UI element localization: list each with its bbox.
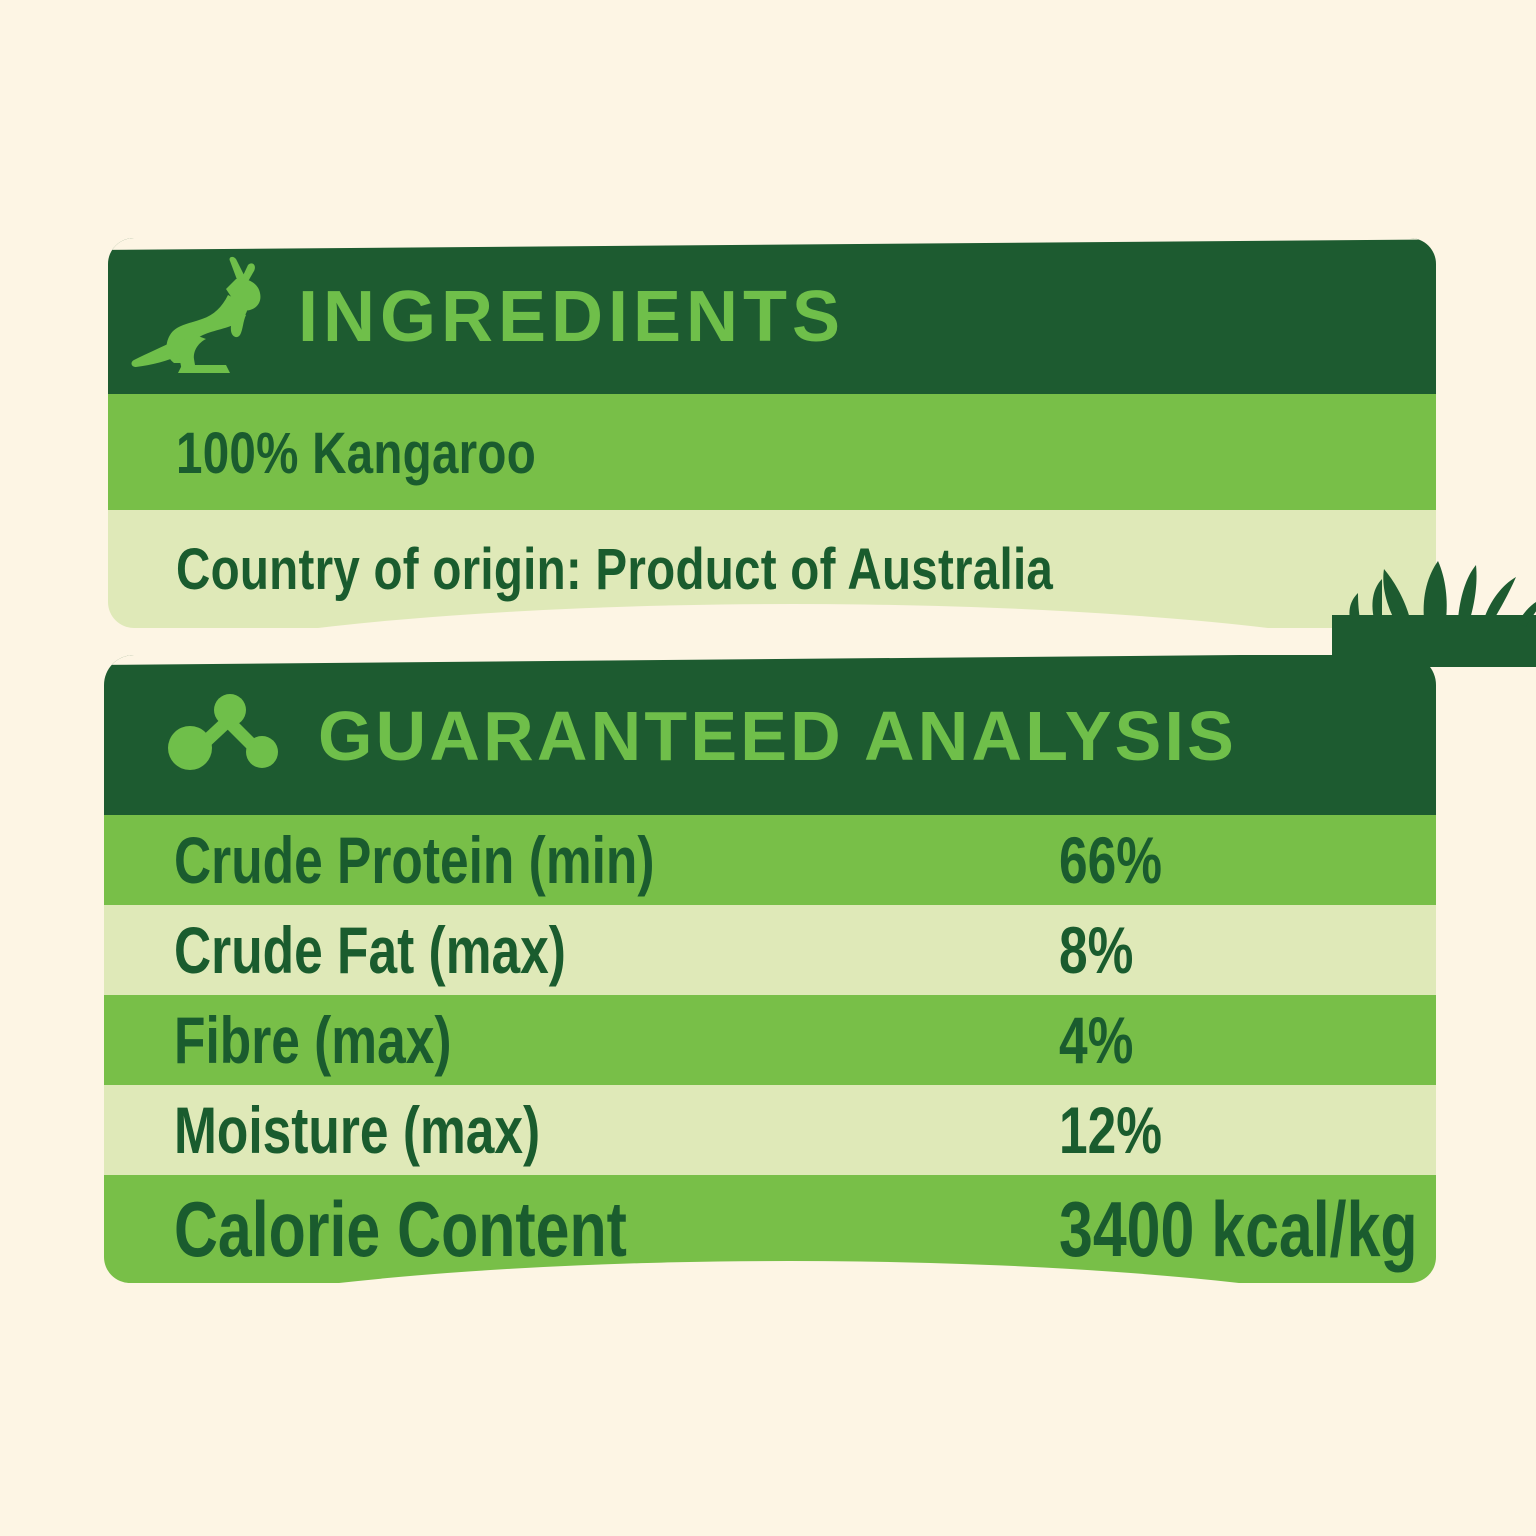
ingredients-row: Country of origin: Product of Australia: [108, 510, 1436, 628]
analysis-row-label: Crude Protein (min): [174, 827, 954, 893]
guaranteed-analysis-header: GUARANTEED ANALYSIS: [104, 655, 1436, 817]
analysis-row-label: Fibre (max): [174, 1007, 954, 1073]
ingredients-row-text: 100% Kangaroo: [176, 420, 536, 487]
molecule-icon: [166, 690, 286, 782]
ingredients-row-text: Country of origin: Product of Australia: [176, 536, 1053, 603]
analysis-row-value: 66%: [1059, 827, 1536, 893]
kangaroo-icon: [130, 255, 280, 379]
guaranteed-analysis-card: GUARANTEED ANALYSIS Crude Protein (min) …: [104, 655, 1436, 1291]
analysis-row-label: Calorie Content: [174, 1190, 954, 1268]
analysis-row: Fibre (max) 4%: [104, 995, 1436, 1085]
analysis-row: Crude Protein (min) 66%: [104, 815, 1436, 905]
analysis-row: Calorie Content 3400 kcal/kg: [104, 1175, 1436, 1283]
analysis-row-value: 3400 kcal/kg: [1059, 1190, 1436, 1268]
ingredients-title: INGREDIENTS: [298, 281, 845, 353]
ingredients-header: INGREDIENTS: [108, 238, 1436, 396]
guaranteed-analysis-title: GUARANTEED ANALYSIS: [318, 701, 1237, 771]
analysis-row-label: Crude Fat (max): [174, 917, 954, 983]
analysis-row-label: Moisture (max): [174, 1097, 954, 1163]
ingredients-card: INGREDIENTS 100% Kangaroo Country of ori…: [108, 238, 1436, 628]
analysis-row: Crude Fat (max) 8%: [104, 905, 1436, 995]
nutrition-panel: INGREDIENTS 100% Kangaroo Country of ori…: [0, 0, 1536, 1536]
analysis-row-value: 12%: [1059, 1097, 1536, 1163]
ingredients-row: 100% Kangaroo: [108, 394, 1436, 512]
analysis-row: Moisture (max) 12%: [104, 1085, 1436, 1175]
analysis-row-value: 4%: [1059, 1007, 1536, 1073]
analysis-row-value: 8%: [1059, 917, 1536, 983]
guaranteed-analysis-rows: Crude Protein (min) 66% Crude Fat (max) …: [104, 815, 1436, 1283]
